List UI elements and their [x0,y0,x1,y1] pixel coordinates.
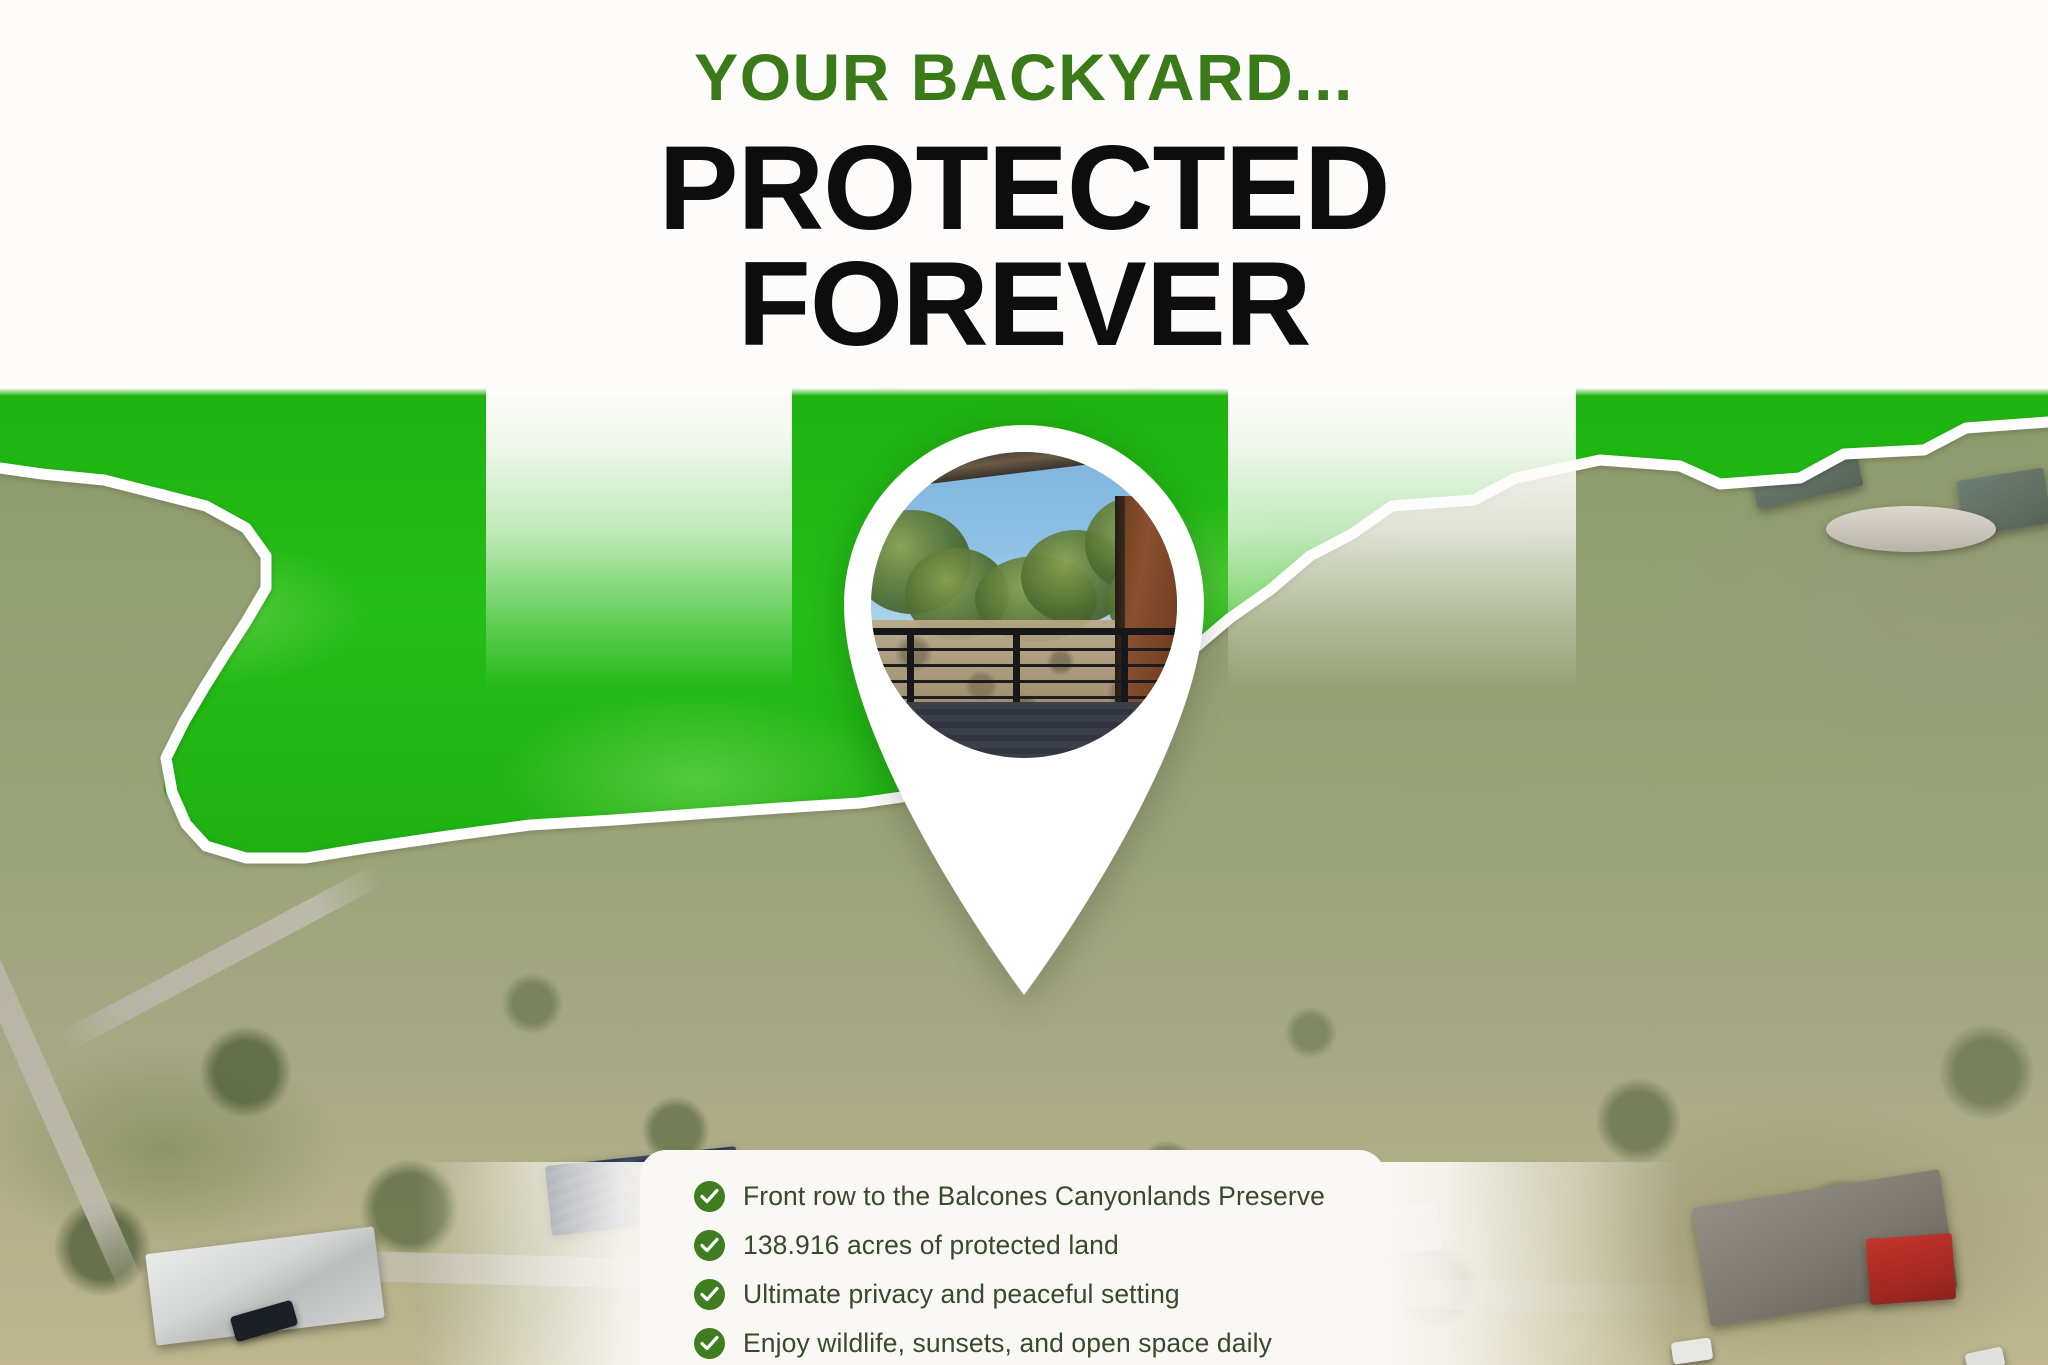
feature-item-1: Front row to the Balcones Canyonlands Pr… [640,1172,1385,1221]
feature-label: Enjoy wildlife, sunsets, and open space … [743,1328,1272,1359]
card-fade-right [1380,1162,1680,1365]
photo-rail-2 [871,664,1177,667]
pin-photo-deck-view [871,452,1177,758]
feature-label: Ultimate privacy and peaceful setting [743,1279,1180,1310]
map-pin-icon[interactable] [814,395,1234,995]
photo-rail-post-right [1121,628,1128,702]
check-circle-icon [694,1181,725,1212]
headline-line-2: FOREVER [0,244,2048,364]
photo-deck-floor [871,702,1177,758]
feature-item-2: 138.916 acres of protected land [640,1221,1385,1270]
features-card: Front row to the Balcones Canyonlands Pr… [640,1150,1385,1365]
header-band: YOUR BACKYARD... PROTECTED FOREVER [0,0,2048,388]
eyebrow-text: YOUR BACKYARD... [0,44,2048,110]
fade-band-right [1228,388,1576,688]
feature-item-3: Ultimate privacy and peaceful setting [640,1270,1385,1319]
feature-label: 138.916 acres of protected land [743,1230,1119,1261]
check-circle-icon [694,1230,725,1261]
check-circle-icon [694,1279,725,1310]
photo-rail-3 [871,680,1177,683]
card-fade-left [418,1162,678,1365]
feature-item-4: Enjoy wildlife, sunsets, and open space … [640,1319,1385,1365]
photo-rail-post-mid [1013,628,1020,702]
photo-rail-post-left [907,628,914,702]
photo-rail-1 [871,648,1177,651]
marketing-poster: YOUR BACKYARD... PROTECTED FOREVER [0,0,2048,1365]
feature-label: Front row to the Balcones Canyonlands Pr… [743,1181,1325,1212]
fade-band-left [486,388,792,688]
photo-rail-top [871,628,1177,635]
photo-rail-4 [871,696,1177,699]
headline-line-1: PROTECTED [0,128,2048,248]
check-circle-icon [694,1328,725,1359]
